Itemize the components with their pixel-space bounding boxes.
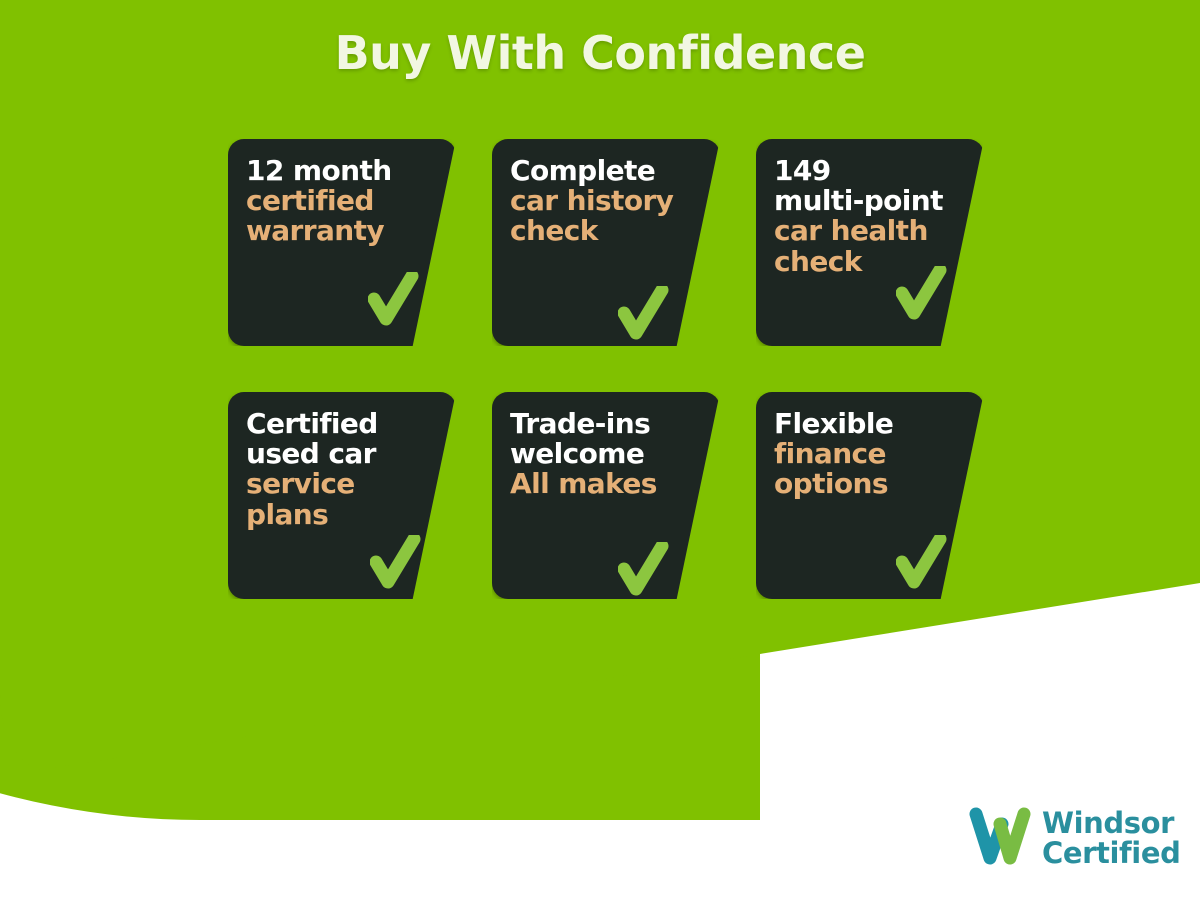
card-line-white: Complete [510,156,690,186]
card-line-tan: check [510,216,690,246]
card-line-white: 12 month [246,156,426,186]
card-line-tan: check [774,247,954,277]
card-line-tan: service [246,469,426,499]
card-line-tan: options [774,469,954,499]
card-line-tan: warranty [246,216,426,246]
card-text: Certified used car service plans [246,409,426,530]
card-line-white: Certified [246,409,426,439]
feature-card-certified-used-car-service-plans[interactable]: Certified used car service plans [228,392,456,599]
feature-card-flexible-finance-options[interactable]: Flexible finance options [756,392,984,599]
feature-card-grid: 12 month certified warranty Complete car… [228,139,988,645]
card-line-white: Flexible [774,409,954,439]
card-line-tan: car health [774,216,954,246]
logo-line-2: Certified [1042,839,1180,869]
card-text: 149 multi-point car health check [774,156,954,277]
card-text: Trade-ins welcome All makes [510,409,690,500]
logo-line-1: Windsor [1042,809,1180,839]
card-row-top: 12 month certified warranty Complete car… [228,139,988,346]
logo-wordmark: Windsor Certified [1042,809,1180,868]
card-line-tan: plans [246,500,426,530]
windsor-certified-logo[interactable]: Windsor Certified [968,806,1180,872]
card-line-tan: car history [510,186,690,216]
card-line-white: used car [246,439,426,469]
card-line-tan: All makes [510,469,690,499]
card-line-white: multi-point [774,186,954,216]
feature-card-complete-car-history-check[interactable]: Complete car history check [492,139,720,346]
page-title: Buy With Confidence [0,26,1200,80]
card-text: Complete car history check [510,156,690,247]
feature-card-12-month-certified-warranty[interactable]: 12 month certified warranty [228,139,456,346]
card-line-white: Trade-ins [510,409,690,439]
poster: Buy With Confidence 12 month certified w… [0,0,1200,900]
windsor-w-icon [968,806,1032,872]
card-line-tan: finance [774,439,954,469]
card-line-white: welcome [510,439,690,469]
feature-card-149-multi-point-car-health-check[interactable]: 149 multi-point car health check [756,139,984,346]
card-text: Flexible finance options [774,409,954,500]
card-text: 12 month certified warranty [246,156,426,247]
card-line-white: 149 [774,156,954,186]
card-row-bottom: Certified used car service plans Trade-i… [228,392,988,599]
card-line-tan: certified [246,186,426,216]
feature-card-trade-ins-welcome-all-makes[interactable]: Trade-ins welcome All makes [492,392,720,599]
